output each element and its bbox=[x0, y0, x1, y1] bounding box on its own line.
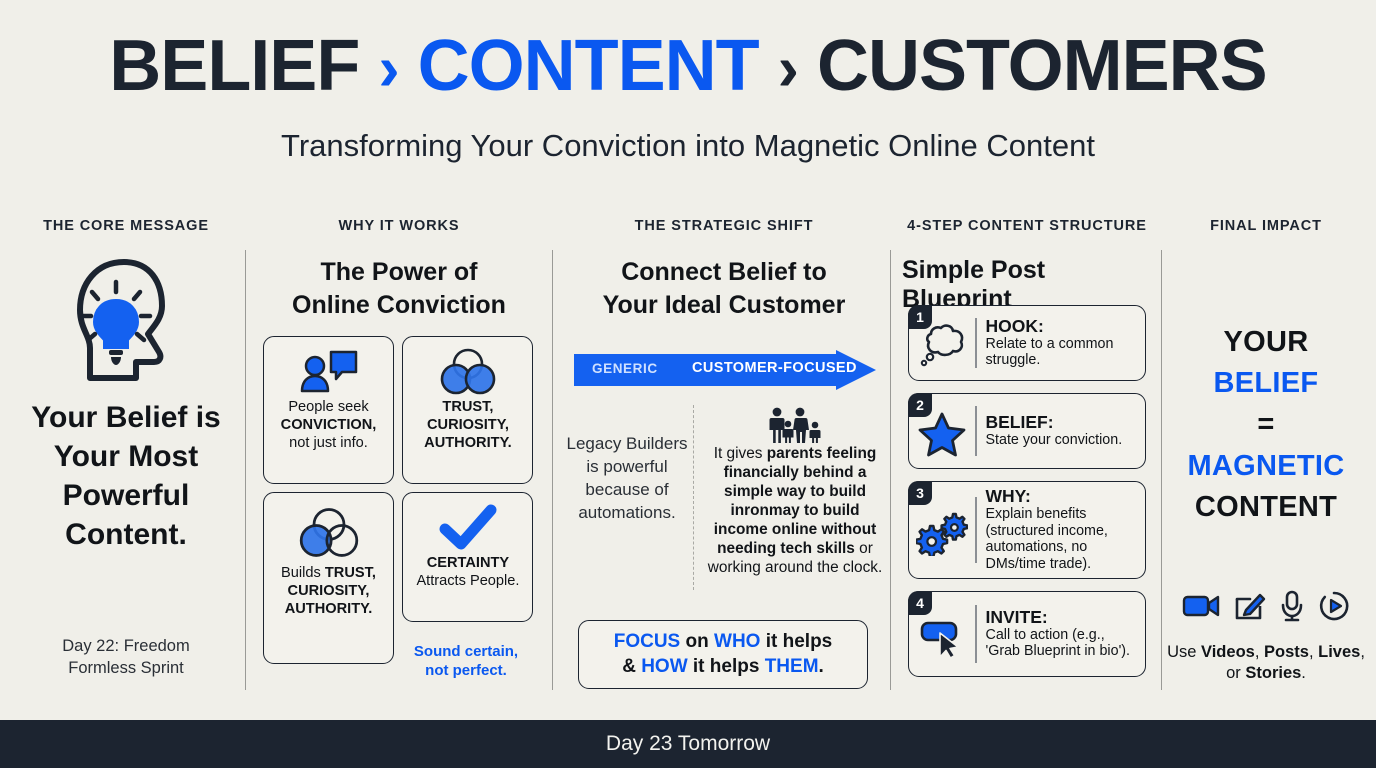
why-it-works-title: The Power of Online Conviction bbox=[253, 256, 545, 321]
generic-to-customer-arrow: GENERIC CUSTOMER-FOCUSED bbox=[574, 350, 876, 390]
why-note-line-2: not perfect. bbox=[395, 662, 537, 681]
column-label-why-it-works: WHY IT WORKS bbox=[253, 218, 545, 234]
step-belief-text: BELIEF: State your conviction. bbox=[977, 413, 1146, 449]
footnote-line-1: Day 22: Freedom bbox=[6, 635, 246, 657]
step-why-text: WHY: Explain benefits (structured income… bbox=[977, 487, 1146, 573]
final-foot-plain3: , bbox=[1309, 643, 1318, 661]
step-belief-heading: BELIEF: bbox=[986, 413, 1140, 432]
final-line-content: CONTENT bbox=[1166, 487, 1366, 528]
why-card-certainty[interactable]: CERTAINTY Attracts People. bbox=[402, 492, 533, 622]
why-note-line-1: Sound certain, bbox=[395, 643, 537, 662]
why-title-line-1: The Power of bbox=[253, 256, 545, 289]
strategic-shift-title: Connect Belief to Your Ideal Customer bbox=[560, 256, 888, 321]
shift-divider bbox=[693, 405, 694, 590]
step-why[interactable]: 3 WHY: Explain benefits (structured inco bbox=[908, 481, 1146, 579]
why-card-certainty-text: CERTAINTY Attracts People. bbox=[409, 554, 526, 590]
why-it-works-note: Sound certain, not perfect. bbox=[395, 643, 537, 681]
why-card-conviction-plain1: People seek bbox=[288, 399, 368, 415]
arrow-label-customer-focused: CUSTOMER-FOCUSED bbox=[692, 360, 857, 376]
step-invite-detail: Call to action (e.g., 'Grab Blueprint in… bbox=[986, 627, 1140, 660]
footer-bar: Day 23 Tomorrow bbox=[0, 720, 1376, 768]
why-card-trust-bold: TRUST, CURIOSITY, AUTHORITY. bbox=[424, 399, 512, 451]
step-invite-text: INVITE: Call to action (e.g., 'Grab Blue… bbox=[977, 608, 1146, 660]
step-hook[interactable]: 1 HOOK: Relate to a common struggle. bbox=[908, 305, 1146, 381]
step-hook-detail: Relate to a common struggle. bbox=[986, 336, 1140, 369]
why-card-builds-trust-text: Builds TRUST, CURIOSITY, AUTHORITY. bbox=[270, 564, 387, 619]
final-foot-lives: Lives bbox=[1318, 643, 1360, 661]
blueprint-steps: 1 HOOK: Relate to a common struggle. 2 bbox=[908, 305, 1146, 689]
video-camera-icon[interactable] bbox=[1182, 592, 1220, 625]
column-why-it-works: The Power of Online Conviction People se… bbox=[253, 250, 545, 690]
final-foot-plain1: Use bbox=[1167, 643, 1201, 661]
microphone-icon[interactable] bbox=[1280, 590, 1304, 627]
shift-comparison: Legacy Builders is powerful because of a… bbox=[560, 405, 888, 595]
title-customers: CUSTOMERS bbox=[817, 26, 1267, 106]
focus-word-amp: & bbox=[622, 656, 641, 677]
focus-word-ithelps2: it helps bbox=[688, 656, 765, 677]
shift-generic-text: Legacy Builders is powerful because of a… bbox=[566, 433, 688, 525]
step-hook-heading: HOOK: bbox=[986, 317, 1140, 336]
column-label-strategic-shift: THE STRATEGIC SHIFT bbox=[560, 218, 888, 234]
shift-title-line-1: Connect Belief to bbox=[560, 256, 888, 289]
focus-word-who: WHO bbox=[714, 631, 760, 652]
column-content-structure: Simple Post Blueprint 1 HOOK: Relate to … bbox=[898, 250, 1156, 690]
step-why-detail: Explain benefits (structured income, aut… bbox=[986, 506, 1140, 573]
step-why-heading: WHY: bbox=[986, 487, 1140, 506]
column-final-impact: YOUR BELIEF = MAGNETIC CONTENT bbox=[1166, 250, 1366, 690]
step-number-badge: 2 bbox=[908, 393, 932, 417]
shift-customer-text: It gives parents feeling financially beh… bbox=[702, 445, 888, 578]
step-belief[interactable]: 2 BELIEF: State your conviction. bbox=[908, 393, 1146, 469]
core-message-headline: Your Belief is Your Most Powerful Conten… bbox=[6, 398, 246, 554]
page-subtitle: Transforming Your Conviction into Magnet… bbox=[0, 128, 1376, 164]
focus-word-ithelps1: it helps bbox=[760, 631, 832, 652]
final-foot-plain2: , bbox=[1255, 643, 1264, 661]
page-title: BELIEF › CONTENT › CUSTOMERS bbox=[0, 30, 1376, 102]
title-separator-2: › bbox=[778, 32, 798, 104]
why-card-trust-text: TRUST, CURIOSITY, AUTHORITY. bbox=[409, 398, 526, 453]
shift-customer-block: It gives parents feeling financially beh… bbox=[702, 405, 888, 578]
head-lightbulb-icon bbox=[66, 252, 186, 397]
focus-word-them: THEM bbox=[765, 656, 819, 677]
focus-callout-box[interactable]: FOCUS on WHO it helps & HOW it helps THE… bbox=[578, 620, 868, 689]
core-message-footnote: Day 22: Freedom Formless Sprint bbox=[6, 635, 246, 680]
why-card-builds-trust[interactable]: Builds TRUST, CURIOSITY, AUTHORITY. bbox=[263, 492, 394, 664]
step-invite-heading: INVITE: bbox=[986, 608, 1140, 627]
final-foot-plain5: . bbox=[1301, 664, 1306, 682]
final-foot-stories: Stories bbox=[1245, 664, 1301, 682]
footnote-line-2: Formless Sprint bbox=[6, 657, 246, 679]
shift-customer-plain1: It gives bbox=[714, 445, 767, 462]
infographic-page: BELIEF › CONTENT › CUSTOMERS Transformin… bbox=[0, 0, 1376, 768]
column-label-final-impact: FINAL IMPACT bbox=[1166, 218, 1366, 234]
focus-word-period: . bbox=[819, 656, 824, 677]
family-icon bbox=[702, 405, 888, 443]
why-card-grid: People seek CONVICTION, not just info. T… bbox=[261, 336, 537, 672]
focus-word-how: HOW bbox=[641, 656, 687, 677]
final-line-equals: = bbox=[1166, 404, 1366, 445]
focus-word-focus: FOCUS bbox=[614, 631, 681, 652]
final-impact-footer: Use Videos, Posts, Lives, or Stories. bbox=[1166, 642, 1366, 684]
footer-text: Day 23 Tomorrow bbox=[606, 732, 770, 756]
title-content: CONTENT bbox=[418, 26, 759, 106]
step-number-badge: 3 bbox=[908, 481, 932, 505]
final-foot-videos: Videos bbox=[1201, 643, 1255, 661]
final-impact-icon-row bbox=[1166, 590, 1366, 627]
arrow-label-generic: GENERIC bbox=[592, 361, 658, 376]
venn-three-circles-icon bbox=[270, 502, 387, 564]
header: BELIEF › CONTENT › CUSTOMERS Transformin… bbox=[0, 0, 1376, 190]
column-strategic-shift: Connect Belief to Your Ideal Customer GE… bbox=[560, 250, 888, 690]
final-line-belief: BELIEF bbox=[1166, 363, 1366, 404]
step-hook-text: HOOK: Relate to a common struggle. bbox=[977, 317, 1146, 369]
why-card-certainty-bold: CERTAINTY bbox=[427, 555, 509, 571]
play-circle-icon[interactable] bbox=[1318, 590, 1350, 627]
title-separator-1: › bbox=[378, 32, 398, 104]
checkmark-icon bbox=[409, 502, 526, 554]
column-divider-3 bbox=[890, 250, 891, 690]
step-invite[interactable]: 4 INVITE: Call to action (e.g., 'Grab Bl… bbox=[908, 591, 1146, 677]
venn-three-circles-icon bbox=[409, 346, 526, 398]
column-label-core-message: THE CORE MESSAGE bbox=[6, 218, 246, 234]
why-card-trust[interactable]: TRUST, CURIOSITY, AUTHORITY. bbox=[402, 336, 533, 484]
column-label-content-structure: 4-STEP CONTENT STRUCTURE bbox=[898, 218, 1156, 234]
final-line-your: YOUR bbox=[1166, 322, 1366, 363]
why-title-line-2: Online Conviction bbox=[253, 289, 545, 322]
why-card-conviction-bold: CONVICTION, bbox=[281, 417, 377, 433]
why-card-conviction-plain2: not just info. bbox=[289, 435, 368, 451]
step-belief-detail: State your conviction. bbox=[986, 432, 1140, 449]
final-line-magnetic: MAGNETIC bbox=[1166, 446, 1366, 487]
focus-word-on: on bbox=[680, 631, 714, 652]
why-card-certainty-plain2: Attracts People. bbox=[416, 573, 519, 589]
column-divider-4 bbox=[1161, 250, 1162, 690]
why-card-conviction[interactable]: People seek CONVICTION, not just info. bbox=[263, 336, 394, 484]
why-card-builds-plain1: Builds bbox=[281, 565, 325, 581]
title-belief: BELIEF bbox=[109, 26, 359, 106]
final-foot-posts: Posts bbox=[1264, 643, 1309, 661]
final-impact-equation: YOUR BELIEF = MAGNETIC CONTENT bbox=[1166, 322, 1366, 528]
shift-title-line-2: Your Ideal Customer bbox=[560, 289, 888, 322]
column-divider-2 bbox=[552, 250, 553, 690]
why-card-conviction-text: People seek CONVICTION, not just info. bbox=[270, 398, 387, 453]
step-number-badge: 1 bbox=[908, 305, 932, 329]
person-speech-bubble-icon bbox=[270, 346, 387, 398]
column-core-message: Your Belief is Your Most Powerful Conten… bbox=[6, 250, 246, 690]
step-number-badge: 4 bbox=[908, 591, 932, 615]
edit-pencil-square-icon[interactable] bbox=[1234, 591, 1266, 626]
